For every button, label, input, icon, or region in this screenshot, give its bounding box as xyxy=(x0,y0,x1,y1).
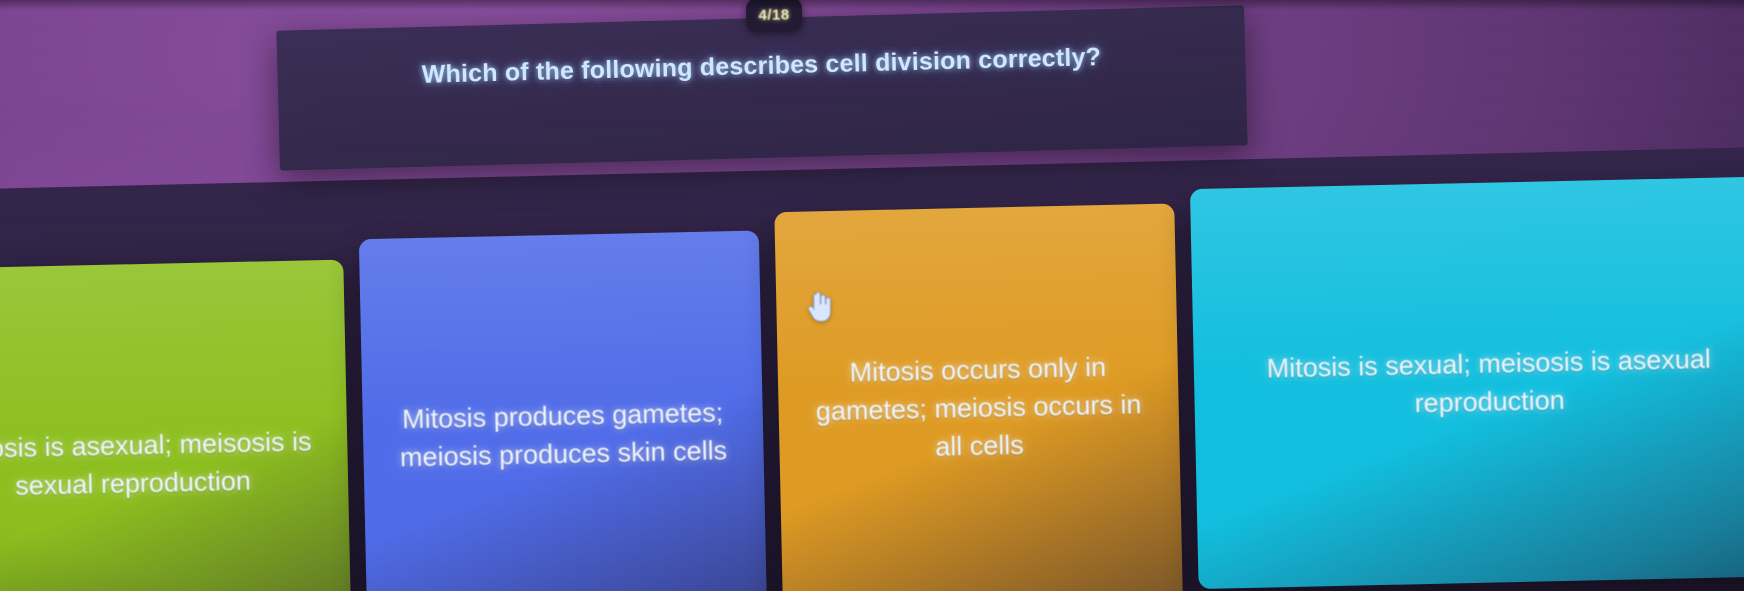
question-text: Which of the following describes cell di… xyxy=(277,39,1245,93)
answer-card-blue[interactable]: Mitosis produces gametes; meiosis produc… xyxy=(359,231,768,591)
answer-card-cyan[interactable]: Mitosis is sexual; meisosis is asexual r… xyxy=(1190,176,1744,589)
answer-cards-row: Mitosis is asexual; meisosis is sexual r… xyxy=(0,176,1744,591)
top-edge-shadow xyxy=(0,0,1744,10)
answer-label-green: Mitosis is asexual; meisosis is sexual r… xyxy=(0,422,318,507)
quiz-screen: Which of the following describes cell di… xyxy=(0,0,1744,591)
progress-badge: 4/18 xyxy=(746,0,803,32)
answer-card-green[interactable]: Mitosis is asexual; meisosis is sexual r… xyxy=(0,260,352,591)
answer-label-orange: Mitosis occurs only in gametes; meiosis … xyxy=(805,347,1151,469)
answer-label-blue: Mitosis produces gametes; meiosis produc… xyxy=(390,393,736,477)
answer-label-cyan: Mitosis is sexual; meisosis is asexual r… xyxy=(1235,339,1744,427)
question-panel-wrapper: Which of the following describes cell di… xyxy=(276,5,1247,170)
progress-badge-label: 4/18 xyxy=(758,6,789,23)
answer-card-orange[interactable]: Mitosis occurs only in gametes; meiosis … xyxy=(774,203,1183,591)
